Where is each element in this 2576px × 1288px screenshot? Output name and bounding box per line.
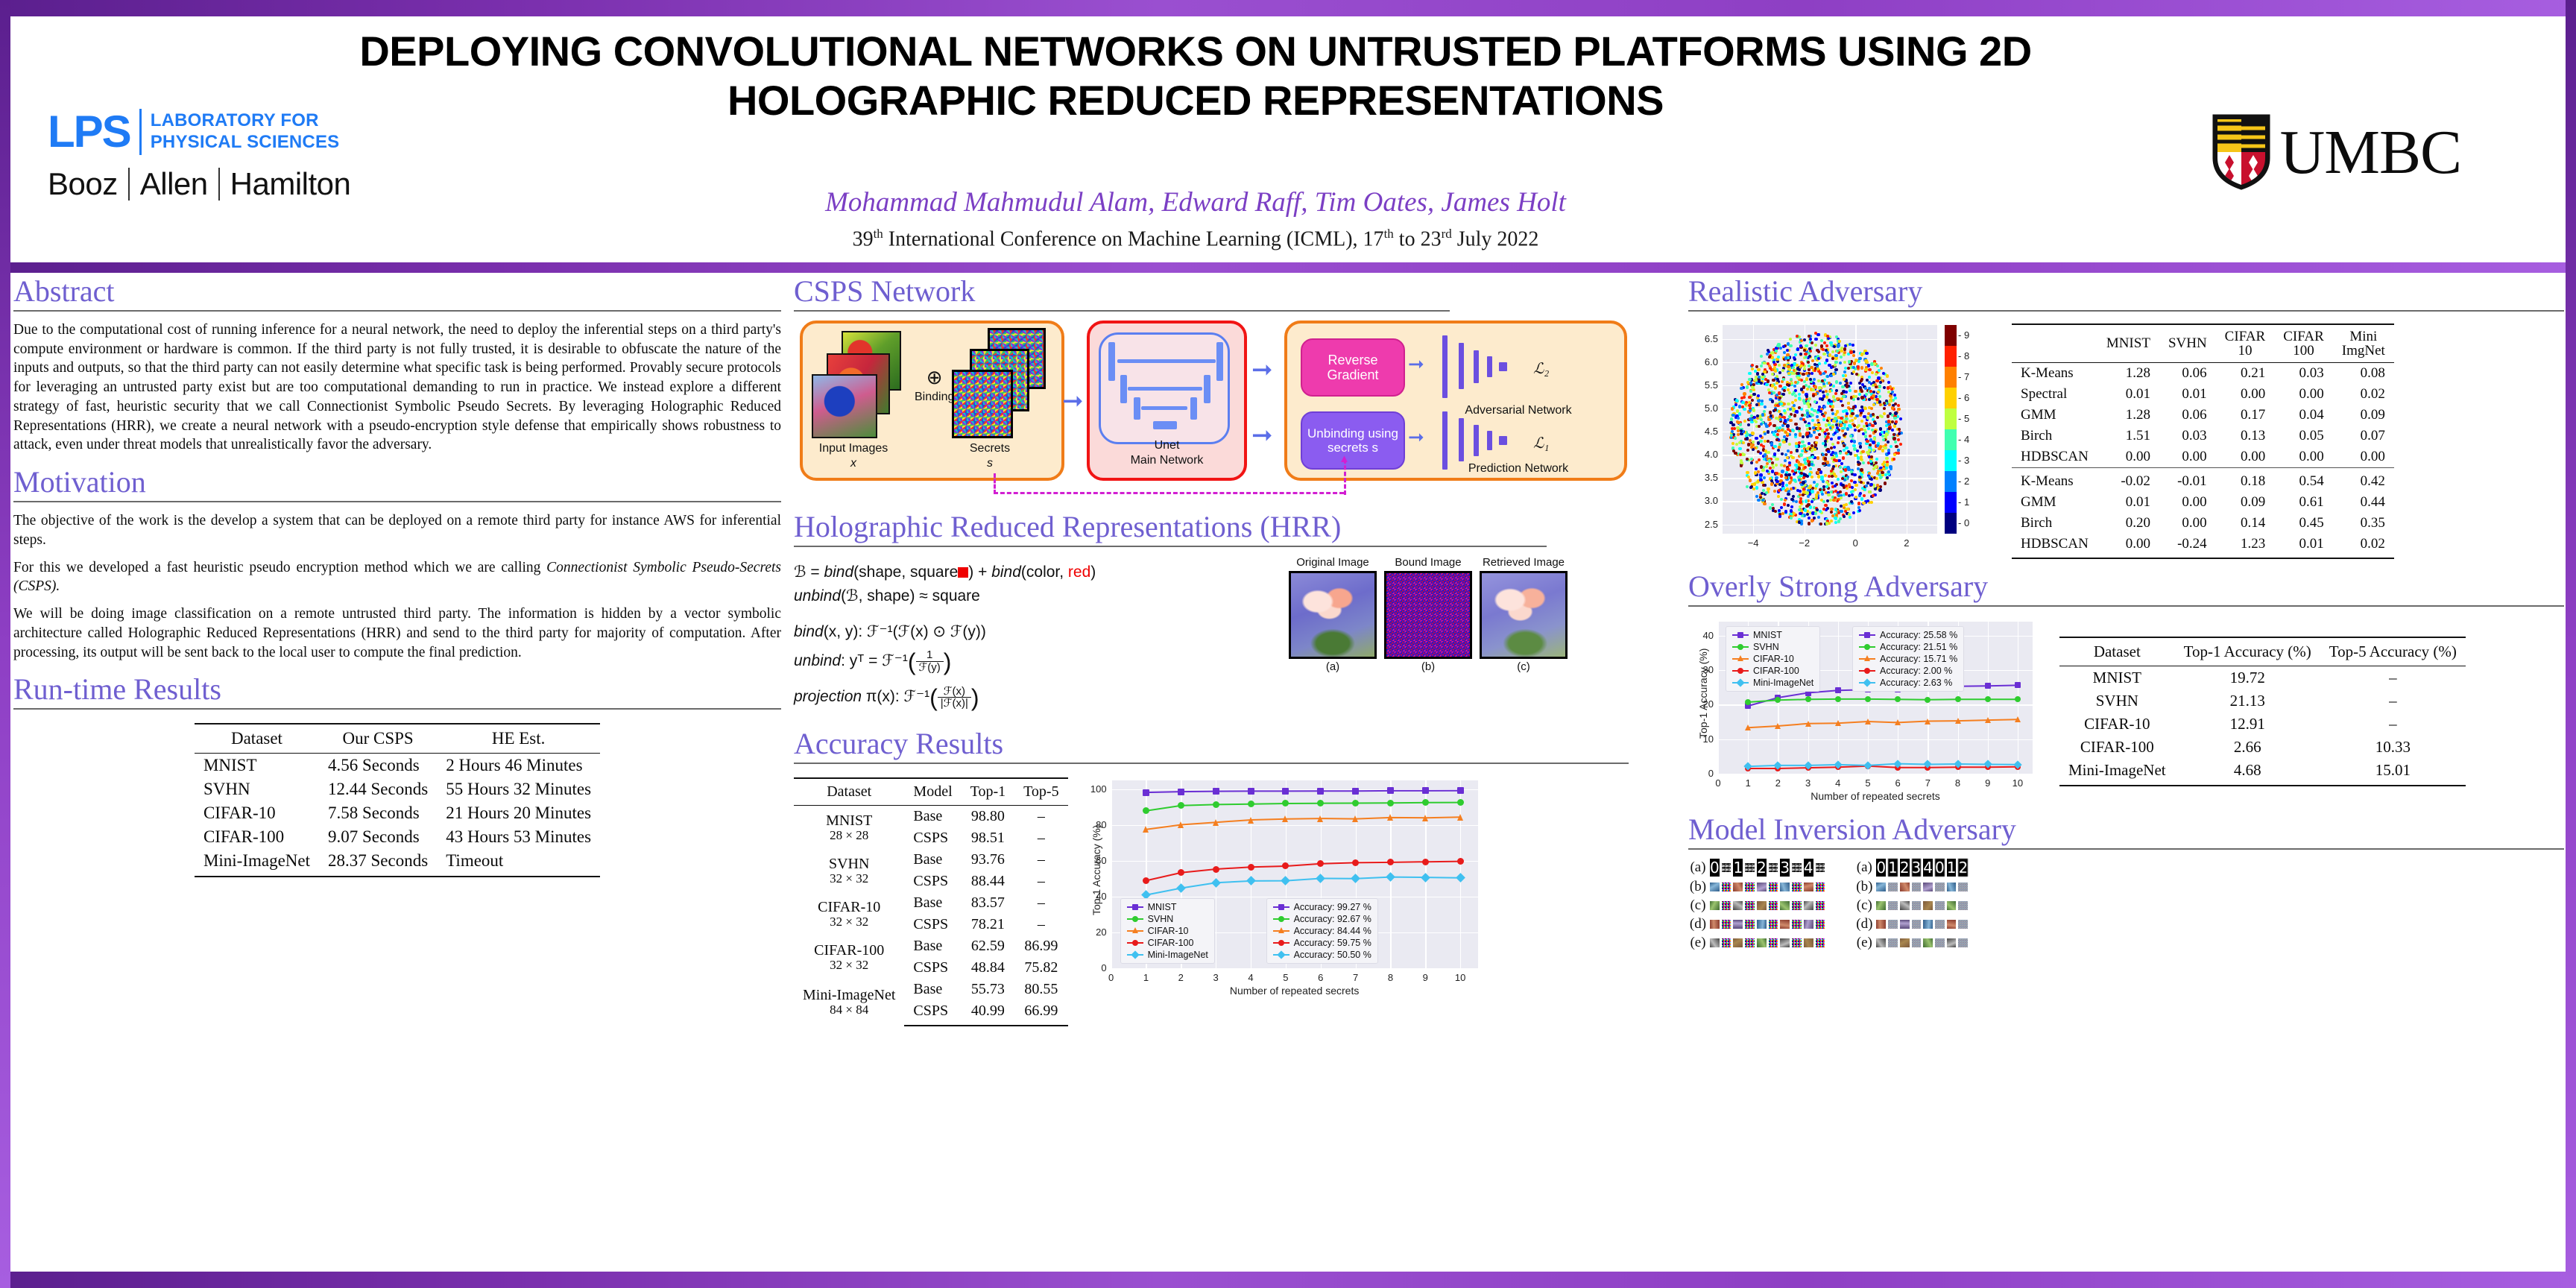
inversion-row-label: (e) [1854, 935, 1874, 951]
scatter-point [1746, 437, 1749, 440]
conference-end: July 2022 [1452, 227, 1539, 250]
scatter-point [1859, 445, 1862, 448]
scatter-point [1884, 482, 1887, 484]
inversion-image-cell [1780, 883, 1790, 892]
legend-item: Accuracy: 2.00 % [1854, 665, 1962, 677]
scatter-point [1828, 353, 1831, 356]
eq1-lead: ℬ = [794, 563, 824, 581]
scatter-point [1848, 424, 1851, 427]
osa-top5: – [2320, 713, 2466, 736]
scatter-point [1770, 482, 1773, 485]
scatter-point [1842, 395, 1845, 398]
series-marker-diamond [1131, 950, 1139, 959]
scatter-point [1819, 488, 1822, 491]
scatter-point [1843, 370, 1846, 373]
series-marker-pentagon [1248, 801, 1254, 807]
scatter-point [1765, 491, 1768, 494]
scatter-point [1822, 382, 1825, 385]
hrr-retrieved-image-cell: Retrieved Image (c) [1480, 556, 1568, 673]
colorbar-tick-label: - 7 [1958, 371, 1969, 382]
scatter-point [1831, 451, 1834, 454]
scatter-point [1816, 483, 1819, 486]
hrr-equation-3: bind(x, y): ℱ⁻¹(ℱ(x) ⊙ ℱ(y)) [794, 620, 1271, 644]
scatter-point [1806, 415, 1809, 418]
hrr-rule [794, 546, 1547, 547]
scatter-point [1826, 351, 1829, 354]
ra-value: 0.13 [2216, 426, 2275, 446]
scatter-point [1894, 411, 1897, 414]
series-line-cifar-100 [1748, 766, 2018, 768]
acc-model: CSPS [904, 827, 961, 849]
ra-method: Spectral [2012, 384, 2097, 405]
scatter-point [1819, 470, 1822, 473]
scatter-point [1860, 353, 1863, 356]
scatter-point [1794, 389, 1797, 392]
colorbar-segment [1945, 367, 1957, 388]
unet-block [1134, 397, 1140, 420]
legend-item: Mini-ImageNet [1123, 949, 1213, 961]
loss-2-label: ℒ₂ [1533, 359, 1549, 378]
series-marker-square [1248, 788, 1254, 795]
inversion-image-cell [1888, 920, 1898, 929]
inversion-image-cell [1804, 883, 1813, 892]
scatter-point [1751, 399, 1754, 402]
scatter-point [1747, 443, 1750, 446]
legend-item: Accuracy: 84.44 % [1269, 925, 1376, 937]
ra-value: 0.00 [2216, 446, 2275, 468]
ra-value: -0.02 [2097, 468, 2159, 493]
acc-top5: – [1014, 827, 1067, 849]
legend-label: Accuracy: 25.58 % [1880, 630, 1957, 640]
scatter-point [1811, 490, 1813, 493]
scatter-point [1886, 476, 1889, 479]
series-marker-pentagon [1985, 696, 1991, 702]
scatter-point [1894, 397, 1897, 400]
scatter-point [1802, 373, 1805, 376]
ra-col-svhn: SVHN [2159, 324, 2216, 363]
scatter-point [1808, 405, 1811, 408]
legend-label: CIFAR-100 [1148, 938, 1194, 948]
scatter-point [1894, 441, 1897, 443]
scatter-point [1887, 391, 1890, 394]
scatter-point [1783, 409, 1786, 412]
scatter-point [1892, 433, 1895, 436]
series-marker-circle [1278, 940, 1284, 946]
ra-value: 0.35 [2333, 513, 2394, 534]
realistic-adversary-table-body: K-Means 1.28 0.06 0.21 0.03 0.08 Spectra… [2012, 363, 2394, 559]
acc-model: CSPS [904, 957, 961, 979]
hrr-caption-retrieved: Retrieved Image [1480, 556, 1568, 569]
legend-swatch [1127, 906, 1143, 909]
eq4-close-paren: ) [944, 648, 952, 675]
overly-strong-adversary-rule [1688, 605, 2564, 607]
ra-value: -0.01 [2159, 468, 2216, 493]
scatter-point [1751, 432, 1754, 435]
input-image-thumb [812, 374, 877, 438]
legend-swatch [1127, 918, 1143, 921]
poster-title-line-1: DEPLOYING CONVOLUTIONAL NETWORKS ON UNTR… [338, 27, 2053, 76]
reverse-gradient-line-2: Gradient [1327, 367, 1378, 382]
legend-label: Accuracy: 50.50 % [1294, 950, 1371, 960]
prediction-network-label: Prediction Network [1433, 462, 1604, 476]
series-marker-triangle [1457, 814, 1463, 821]
inversion-image-cell: 1 [1947, 859, 1957, 877]
inversion-image-cell [1935, 883, 1945, 892]
inversion-image-cell [1710, 901, 1720, 911]
acc-top5: 75.82 [1014, 957, 1067, 979]
acc-top5: 86.99 [1014, 935, 1067, 957]
inversion-image-cell [1816, 920, 1825, 929]
scatter-point [1809, 484, 1812, 487]
scatter-point [1879, 403, 1882, 406]
inversion-image-cell [1745, 901, 1755, 911]
legend-item: SVHN [1728, 641, 1818, 653]
scatter-point [1884, 446, 1887, 449]
grid-line-y [1723, 478, 1937, 479]
series-marker-circle [1132, 940, 1138, 946]
scatter-point [1845, 417, 1848, 420]
acc-top5: – [1014, 849, 1067, 871]
series-marker-triangle [1422, 815, 1428, 821]
inversion-image-cell [1780, 938, 1790, 948]
scatter-point [1845, 446, 1848, 449]
acc-top1: 48.84 [962, 957, 1014, 979]
ra-value: 0.14 [2216, 513, 2275, 534]
scatter-point [1872, 413, 1875, 416]
inversion-row-label: (b) [1688, 879, 1708, 895]
runtime-cell: 12.44 Seconds [319, 777, 437, 801]
scatter-point [1847, 367, 1850, 370]
scatter-point [1790, 487, 1793, 490]
motivation-rule [13, 501, 781, 502]
scatter-point [1759, 479, 1762, 482]
scatter-point [1844, 420, 1847, 423]
osa-top1: 12.91 [2175, 713, 2320, 736]
scatter-point [1783, 416, 1786, 419]
series-marker-square [1317, 788, 1324, 795]
scatter-point [1794, 423, 1797, 426]
scatter-point [1772, 432, 1775, 435]
chart-legend: MNISTSVHNCIFAR-10CIFAR-100Mini-ImageNet [1120, 898, 1215, 964]
legend-label: Mini-ImageNet [1753, 678, 1813, 688]
scatter-point [1787, 428, 1790, 431]
scatter-point [1760, 465, 1763, 468]
unet-skip [1141, 406, 1187, 410]
inversion-image-cell [1923, 938, 1933, 948]
inversion-image-cell: 4 [1923, 859, 1933, 877]
scatter-point [1832, 499, 1835, 502]
scatter-point [1810, 463, 1813, 466]
osa-dataset: CIFAR-10 [2059, 713, 2175, 736]
scatter-point [1815, 496, 1818, 499]
ra-col-mini-l2: ImgNet [2342, 344, 2385, 358]
scatter-point [1863, 429, 1866, 432]
scatter-point [1816, 423, 1819, 426]
realistic-adversary-table: MNIST SVHN CIFAR 10 CIFAR 100 Mini ImgNe… [2012, 323, 2394, 559]
inversion-image-cell: 2 [1958, 859, 1968, 877]
y-tick-label: 3.0 [1688, 495, 1718, 506]
series-marker-triangle [2015, 716, 2021, 722]
scatter-point [1751, 364, 1754, 367]
table-header-row: Dataset Our CSPS HE Est. [195, 724, 600, 754]
scatter-point [1819, 510, 1822, 513]
scatter-point [1759, 440, 1762, 443]
y-tick-label: 4.0 [1688, 449, 1718, 460]
hrr-equation-4: unbind: yᵀ = ℱ⁻¹(1ℱ(y)) [794, 644, 1271, 681]
scatter-point [1748, 372, 1751, 375]
scatter-point [1796, 347, 1799, 350]
scatter-point [1790, 364, 1793, 367]
acc-dataset-dim: 28 × 28 [803, 829, 895, 842]
right-column: Realistic Adversary −4−2022.53.03.54.04.… [1688, 276, 2564, 963]
inversion-row-label: (c) [1854, 897, 1874, 914]
inversion-image-cell [1733, 901, 1743, 911]
scatter-point [1807, 460, 1810, 463]
scatter-point [1821, 397, 1824, 400]
acc-dataset-cell: CIFAR-10 32 × 32 [794, 892, 904, 935]
table-header-row: Dataset Top-1 Accuracy (%) Top-5 Accurac… [2059, 637, 2466, 666]
scatter-point [1847, 406, 1850, 409]
model-inversion-grid-right: (a)01234012(b)(c)(d)(e) [1854, 859, 1968, 951]
scatter-point [1859, 492, 1862, 495]
osa-dataset: Mini-ImageNet [2059, 759, 2175, 786]
scatter-point [1786, 467, 1789, 470]
acc-model: Base [904, 979, 961, 1000]
scatter-point [1887, 420, 1890, 423]
series-line-cifar-10 [1146, 817, 1460, 830]
scatter-point [1892, 458, 1895, 461]
ra-col-mini-l1: Mini [2342, 329, 2385, 344]
scatter-point [1887, 414, 1890, 417]
eq5-close-paren: ) [971, 684, 979, 711]
scatter-point [1780, 402, 1783, 405]
legend-label: Accuracy: 15.71 % [1880, 654, 1957, 664]
inversion-image-cell [1733, 920, 1743, 929]
scatter-point [1760, 423, 1763, 426]
legend-label: MNIST [1148, 902, 1177, 912]
scatter-point [1793, 414, 1796, 417]
runtime-cell: 9.07 Seconds [319, 825, 437, 849]
ra-value: 0.20 [2097, 513, 2159, 534]
adversarial-network-layers [1442, 335, 1524, 398]
eq1-bind2: bind [991, 563, 1021, 581]
legend-item: Accuracy: 99.27 % [1269, 901, 1376, 913]
scatter-point [1864, 435, 1867, 438]
scatter-point [1887, 386, 1890, 389]
legend-item: Accuracy: 50.50 % [1269, 949, 1376, 961]
scatter-point [1825, 395, 1828, 398]
inversion-image-cell [1780, 920, 1790, 929]
header-divider-rail [0, 262, 2576, 273]
series-marker-pentagon [1352, 800, 1359, 806]
ra-value: 0.06 [2159, 405, 2216, 426]
series-marker-pentagon [1737, 644, 1743, 650]
scatter-point [1760, 402, 1763, 405]
poster-title: DEPLOYING CONVOLUTIONAL NETWORKS ON UNTR… [338, 27, 2053, 125]
inversion-image-cell [1757, 883, 1767, 892]
x-tick-label: 0 [1846, 537, 1864, 549]
inversion-image-cell [1722, 901, 1731, 911]
series-marker-triangle [1143, 826, 1149, 833]
scatter-point [1771, 384, 1774, 387]
series-marker-square [1737, 632, 1743, 638]
model-inversion-rule [1688, 848, 2564, 850]
chart-legend: Accuracy: 99.27 %Accuracy: 92.67 %Accura… [1266, 898, 1378, 964]
hrr-title: Holographic Reduced Representations (HRR… [794, 511, 1677, 543]
table-header-row: Dataset Model Top-1 Top-5 [794, 778, 1068, 806]
scatter-point [1803, 402, 1806, 405]
scatter-point [1853, 440, 1856, 443]
inversion-image-cell [1769, 920, 1778, 929]
inversion-image-cell: 2 [1900, 859, 1910, 877]
acc-model: Base [904, 935, 961, 957]
x-tick-label: 2 [1898, 537, 1916, 549]
scatter-point [1863, 494, 1866, 497]
conference-sup-3: rd [1442, 227, 1452, 241]
scatter-point [1846, 385, 1849, 388]
scatter-point [1854, 496, 1857, 499]
loss-1-label: ℒ₁ [1533, 434, 1549, 452]
y-axis-title: Top-1 Accuracy (%) [1090, 825, 1102, 915]
arrow-to-adversarial-icon: ➞ [1251, 358, 1273, 383]
colorbar-tick-label: - 8 [1958, 350, 1969, 362]
right-purple-rail [2566, 0, 2576, 1288]
table-row: K-Means 1.28 0.06 0.21 0.03 0.08 [2012, 363, 2394, 385]
acc-model: CSPS [904, 1000, 961, 1026]
inversion-image-cell [1745, 938, 1755, 948]
inversion-image-cell [1935, 938, 1945, 948]
unet-block [1216, 342, 1223, 381]
scatter-point [1765, 383, 1768, 386]
eq1-mid: (shape, square [853, 563, 958, 581]
series-marker-pentagon [1132, 916, 1138, 922]
model-inversion-grid-left: (a)01234(b)(c)(d)(e) [1688, 859, 1825, 951]
scatter-point [1846, 466, 1849, 469]
acc-dataset-dim: 32 × 32 [803, 915, 895, 929]
scatter-point [1853, 473, 1856, 476]
x-axis-title: Number of repeated secrets [1111, 985, 1478, 997]
scatter-point [1872, 441, 1875, 443]
arrow-to-unet-icon: ➞ [1062, 389, 1084, 414]
inversion-image-cell [1947, 920, 1957, 929]
scatter-point [1816, 333, 1819, 336]
eq5-body: π(x): ℱ⁻¹ [866, 688, 929, 705]
ra-method: Birch [2012, 426, 2097, 446]
inversion-image-cell: 3 [1780, 859, 1790, 877]
inversion-image-cell [1935, 901, 1945, 911]
motivation-paragraph-1: The objective of the work is the develop… [13, 511, 781, 549]
colorbar-segment [1945, 388, 1957, 408]
runtime-cell: CIFAR-10 [195, 801, 319, 825]
scatter-point [1783, 386, 1786, 389]
scatter-point [1755, 486, 1758, 489]
scatter-point [1798, 508, 1801, 511]
colorbar-segment [1945, 429, 1957, 450]
inversion-image-cell [1792, 938, 1802, 948]
scatter-point [1839, 382, 1842, 385]
scatter-point [1780, 506, 1783, 509]
scatter-point [1787, 365, 1790, 368]
scatter-point [1790, 509, 1793, 512]
scatter-point [1845, 503, 1848, 506]
osa-top5: – [2320, 689, 2466, 713]
inversion-image-cell [1876, 901, 1886, 911]
acc-dataset-name: MNIST [803, 813, 895, 829]
inversion-image-cell [1923, 883, 1933, 892]
scatter-point [1802, 418, 1805, 421]
eq1-bind: bind [824, 563, 853, 581]
scatter-point [1860, 366, 1863, 369]
scatter-point [1784, 356, 1787, 359]
ra-value: 0.01 [2097, 384, 2159, 405]
scatter-point [1801, 441, 1804, 443]
scatter-point [1822, 500, 1825, 503]
scatter-point [1758, 379, 1761, 382]
scatter-point [1749, 409, 1752, 412]
scatter-point [1843, 378, 1846, 381]
scatter-point [1836, 397, 1839, 400]
scatter-point [1787, 402, 1790, 405]
umbc-wordmark: UMBC [2280, 116, 2461, 189]
lps-line-1: LABORATORY FOR [151, 110, 340, 131]
acc-model: CSPS [904, 914, 961, 935]
table-row: Birch 1.51 0.03 0.13 0.05 0.07 [2012, 426, 2394, 446]
scatter-point [1816, 367, 1819, 370]
inversion-image-cell [1792, 883, 1802, 892]
scatter-point [1868, 368, 1871, 371]
scatter-point [1861, 383, 1864, 386]
series-marker-triangle [1317, 815, 1323, 822]
prediction-network-layers [1442, 411, 1524, 470]
unbinding-line-1: Unbinding using [1307, 426, 1398, 441]
series-marker-triangle [1745, 724, 1751, 730]
scatter-point [1781, 482, 1784, 484]
ra-value: 0.09 [2216, 492, 2275, 513]
scatter-point [1783, 502, 1786, 505]
scatter-point [1826, 435, 1829, 438]
legend-swatch [1127, 954, 1143, 956]
series-line-cifar-10 [1748, 719, 2018, 727]
scatter-point [1760, 364, 1763, 367]
inversion-row-label: (d) [1854, 916, 1874, 932]
scatter-point [1857, 502, 1860, 505]
inversion-image-cell [1769, 901, 1778, 911]
scatter-point [1814, 344, 1817, 347]
accuracy-results-title: Accuracy Results [794, 728, 1677, 760]
colorbar-segment [1945, 450, 1957, 471]
scatter-point [1869, 435, 1872, 438]
inversion-image-cell: 1 [1733, 859, 1743, 877]
runtime-col-dataset: Dataset [195, 724, 319, 754]
ra-value: 0.00 [2159, 492, 2216, 513]
input-images-label: Input Images [809, 442, 898, 455]
legend-swatch [1859, 658, 1875, 660]
grid-line-y [1723, 432, 1937, 432]
scatter-point [1799, 453, 1802, 456]
inversion-image-cell [1947, 883, 1957, 892]
scatter-point [1773, 445, 1776, 448]
scatter-point [1815, 436, 1818, 439]
legend-swatch [1732, 658, 1749, 660]
scatter-point [1784, 499, 1787, 502]
lps-booz-logo: LPS LABORATORY FOR PHYSICAL SCIENCES Boo… [48, 106, 495, 202]
scatter-point [1799, 497, 1802, 500]
scatter-point [1886, 463, 1889, 466]
lps-divider [139, 109, 142, 155]
arrow-to-prediction-icon: ➞ [1251, 423, 1273, 449]
scatter-point [1835, 380, 1838, 383]
eq1-red-word: red [1068, 563, 1090, 581]
